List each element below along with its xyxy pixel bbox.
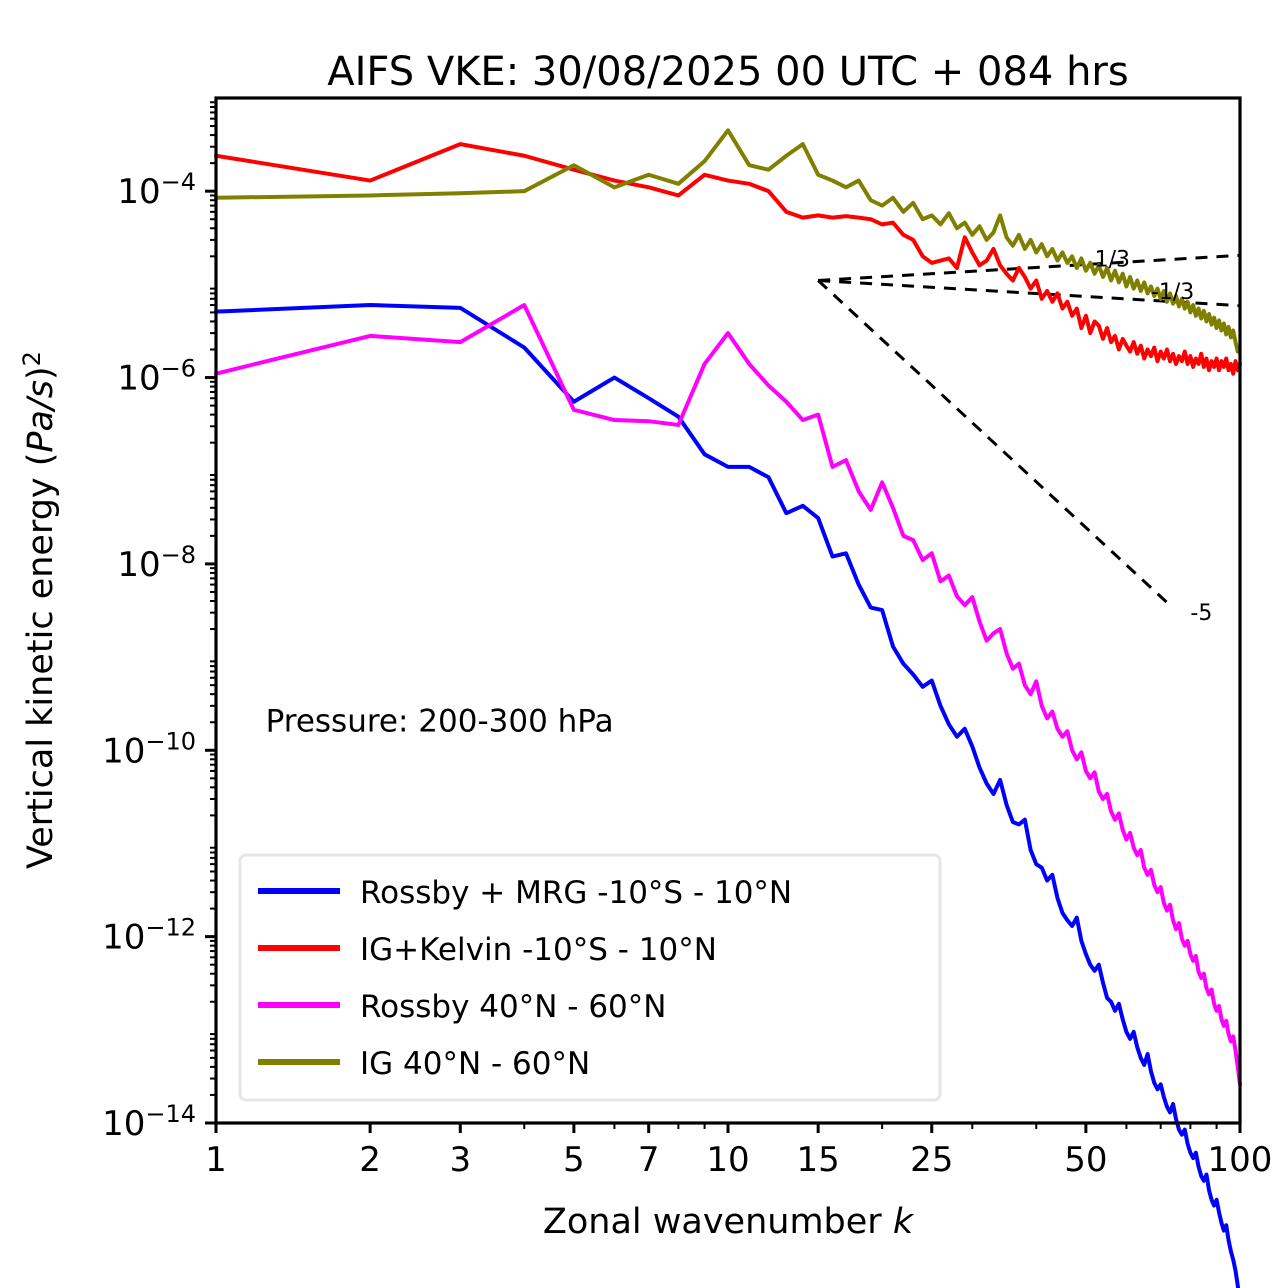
x-tick-label-25: 25 [910, 1140, 953, 1180]
x-tick-label-5: 5 [563, 1140, 585, 1180]
x-tick-label-3: 3 [449, 1140, 471, 1180]
x-tick-label-10: 10 [706, 1140, 749, 1180]
figure-container: AIFS VKE: 30/08/2025 00 UTC + 084 hrs Ve… [0, 0, 1280, 1288]
y-axis-label-text: Vertical kinetic energy [21, 466, 61, 869]
chart-title: AIFS VKE: 30/08/2025 00 UTC + 084 hrs [327, 49, 1128, 95]
slope-annotation--5: -5 [1190, 601, 1212, 626]
slope-annotation--1-3: -1/3 [1151, 280, 1194, 305]
pressure-annotation: Pressure: 200-300 hPa [266, 703, 614, 739]
slope-annotation-1-3: 1/3 [1095, 248, 1130, 273]
x-tick-label-2: 2 [359, 1140, 381, 1180]
svg-text:Vertical kinetic energy (Pa/s): Vertical kinetic energy (Pa/s)2 [18, 351, 61, 869]
chart-svg: AIFS VKE: 30/08/2025 00 UTC + 084 hrs Ve… [0, 0, 1280, 1288]
legend-label-3: IG 40°N - 60°N [360, 1046, 590, 1082]
y-axis-label: Vertical kinetic energy (Pa/s)2 [18, 351, 61, 869]
legend-label-0: Rossby + MRG -10°S - 10°N [360, 875, 792, 911]
x-axis-label: Zonal wavenumber k [543, 1202, 915, 1242]
x-tick-label-7: 7 [638, 1140, 660, 1180]
svg-text:Zonal wavenumber k: Zonal wavenumber k [543, 1202, 915, 1242]
legend-label-2: Rossby 40°N - 60°N [360, 989, 666, 1025]
x-tick-label-100: 100 [1208, 1140, 1273, 1180]
legend-label-1: IG+Kelvin -10°S - 10°N [360, 932, 717, 968]
y-axis-label-unit: Pa/s [21, 380, 61, 453]
x-tick-label-15: 15 [797, 1140, 840, 1180]
x-tick-label-50: 50 [1064, 1140, 1107, 1180]
x-tick-label-1: 1 [205, 1140, 227, 1180]
